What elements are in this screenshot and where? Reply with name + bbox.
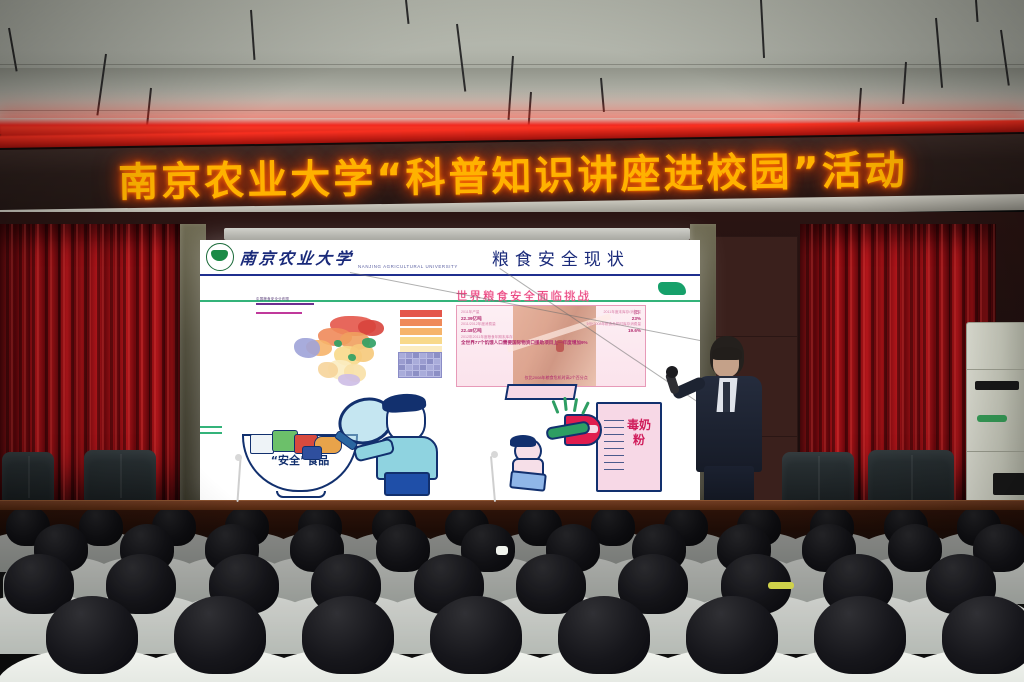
bowl-label: “安全”食品 [244,452,356,468]
projector-screen-housing [224,228,690,240]
legend-cell [406,359,412,364]
curtain-fold [962,224,965,512]
curtain-fold [858,224,861,512]
audience-head [302,596,394,674]
projection-screen: 南京农业大学 NANJING AGRICULTURAL UNIVERSITY 粮… [200,240,700,505]
fleeing-child-figure [508,438,546,490]
map-region [294,338,320,358]
curtain-highlight [76,224,78,512]
spark-icon [581,401,589,415]
legend-cell [420,371,426,376]
curtain-fold [175,224,178,512]
spark-icon [573,398,578,412]
legend-cell [434,359,440,364]
poison-milk-powder-cartoon: 毒奶粉 [508,392,684,498]
curtain-fold [162,224,165,512]
stage-chair [782,452,854,506]
table-microphone-head [491,451,498,458]
inspector-figure [370,394,442,494]
slide-title: 粮食安全现状 [492,245,630,270]
curtain-highlight [167,224,169,512]
color-scale-legend [400,310,442,355]
challenge-card: 旧 2011年产量22.39亿吨2011/2012年度消费量22.48亿吨201… [456,305,646,387]
map-region [338,374,360,386]
ac-display-panel [975,381,1019,390]
sack-top [505,384,578,400]
ac-seam [967,369,1024,370]
audience-seating [0,510,1024,682]
map-caption: 中国粮食安全分布图 [256,296,289,301]
legend-cell [434,371,440,376]
legend-cell [420,359,426,364]
map-region [348,354,356,361]
audience-head [430,596,522,674]
map-bar [256,312,302,314]
stage-chair [84,450,156,502]
legend-cell [413,365,419,370]
legend-cell [413,353,419,358]
challenge-item-value: 22.48亿吨 [461,328,517,335]
map-bar [256,303,314,305]
legend-cell [406,371,412,376]
china-outline [304,314,412,384]
monster-mouth [546,412,602,446]
legend-swatch [400,337,442,344]
milk-powder-sack: 毒奶粉 [596,402,662,492]
legend-cell [420,353,426,358]
presenter-tie [723,382,730,412]
green-decoration-icon [658,282,686,295]
green-tick [200,426,222,428]
audience-head [814,596,906,674]
curtain-fold [71,224,74,512]
bowl-base [276,491,326,498]
presenter-hair-front [712,347,742,360]
food-item [250,434,274,454]
legend-cell [413,359,419,364]
challenge-item-value: 19.6% [569,328,641,335]
legend-cell [420,365,426,370]
challenge-footnote: 仅比2008年粮食危机时高2个百分点 [525,375,588,381]
hair-clip [768,582,794,589]
slide-body: 中国粮食安全分布图 世界粮食安全面临挑战 旧 2011年产量22.39亿吨201… [200,276,700,505]
child-hair [510,435,536,447]
curtain-fold [58,224,61,512]
map-region [334,340,342,347]
china-grain-map: 中国粮食安全分布图 [252,296,442,388]
sack-label: 毒奶粉 [626,418,652,448]
legend-data-table [398,352,442,378]
food-item [302,446,322,460]
ceiling-seam [0,110,1024,111]
presenter-with-microphone [690,336,768,512]
legend-cell [406,365,412,370]
ac-air-vent [993,473,1024,495]
legend-swatch [400,328,442,335]
table-microphone-head [235,454,242,461]
audience-head [942,596,1024,674]
curtain-highlight [954,224,956,512]
slide-header: 南京农业大学 NANJING AGRICULTURAL UNIVERSITY 粮… [200,240,700,276]
legend-cell [399,359,405,364]
ac-brand-logo-icon [977,415,1007,422]
green-tick [200,432,222,434]
led-banner: 南京农业大学“科普知识讲座进校园”活动 [0,120,1024,226]
map-region [362,338,376,348]
challenge-item-value: 全世界77个饥饿人口需要国际物资口援助项目上一年度增加9% [461,340,517,347]
floor-air-conditioner [966,322,1024,520]
curtain-highlight [863,224,865,512]
audience-head [558,596,650,674]
child-legs [509,470,547,492]
legend-cell [399,353,405,358]
university-name-cn: 南京农业大学 [239,245,356,269]
audience-head [686,596,778,674]
legend-cell [399,365,405,370]
nau-crest-icon [206,243,234,271]
legend-swatch [400,319,442,326]
university-name-en: NANJING AGRICULTURAL UNIVERSITY [358,264,458,269]
spark-icon [551,400,559,414]
ac-seam [967,451,1024,452]
audience-head [46,596,138,674]
legend-cell [434,365,440,370]
lecture-hall-photo: 南京农业大学“科普知识讲座进校园”活动 南京农业大学 NANJING AGRIC… [0,0,1024,682]
stage-chair [2,452,54,502]
challenge-left-column: 2011年产量22.39亿吨2011/2012年度消费量22.48亿吨2012年… [461,310,517,347]
legend-cell [427,365,433,370]
figure-pants [384,472,430,496]
legend-cell [427,353,433,358]
hair-tie [496,546,508,555]
legend-cell [427,359,433,364]
legend-cell [399,371,405,376]
audience-head [174,596,266,674]
sack-texture [604,420,624,472]
legend-cell [434,353,440,358]
map-region [318,362,338,378]
safe-food-bowl-cartoon: “安全”食品 [242,394,442,498]
legend-cell [427,371,433,376]
legend-swatch [400,310,442,317]
microphone-head [666,366,678,378]
legend-cell [413,371,419,376]
legend-cell [406,353,412,358]
curtain-highlight [63,224,65,512]
